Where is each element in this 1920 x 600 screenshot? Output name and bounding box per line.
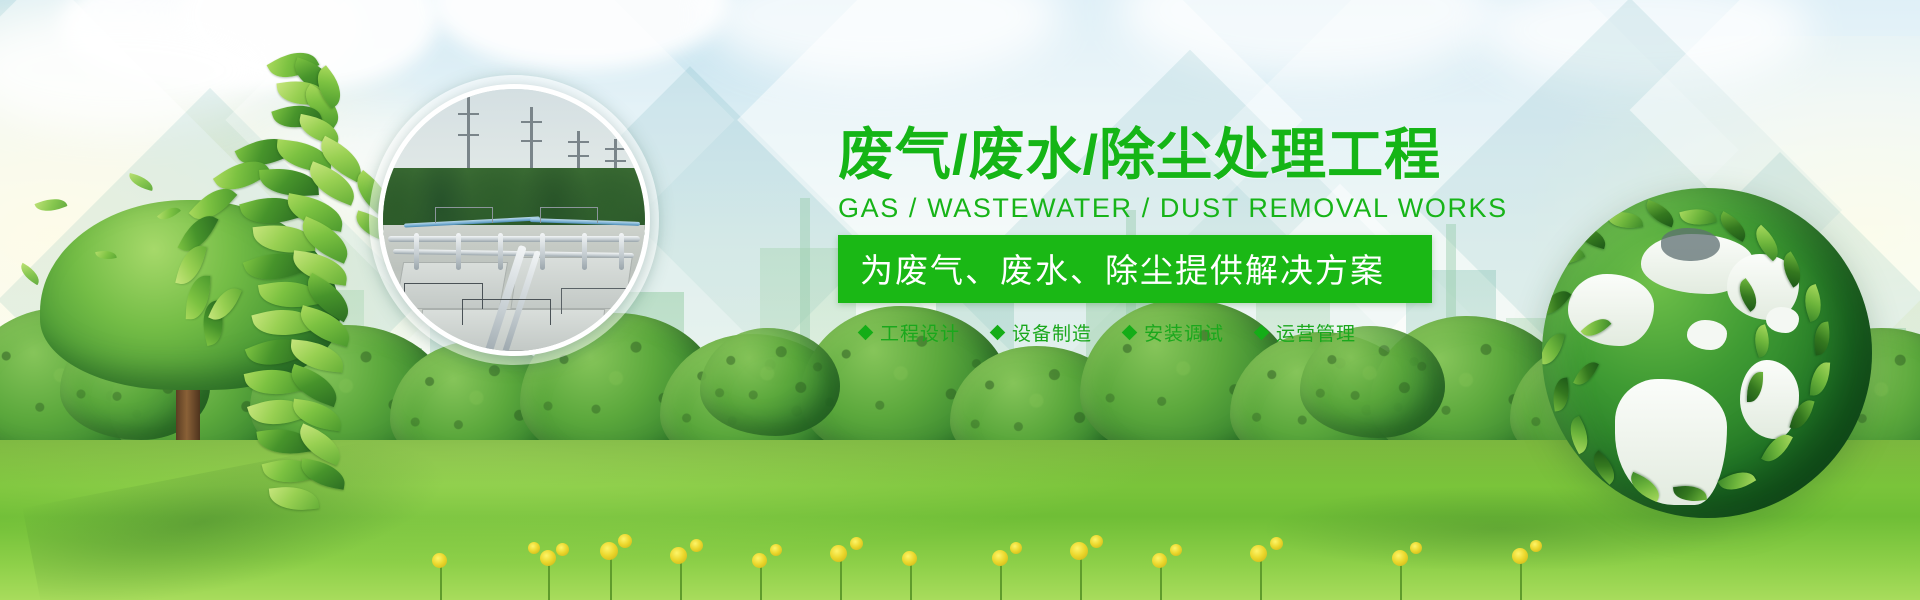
highlight-bar-text: 为废气、废水、除尘提供解决方案 bbox=[860, 252, 1385, 289]
page-subtitle-english: GAS / WASTEWATER / DUST REMOVAL WORKS bbox=[838, 193, 1498, 224]
wastewater-plant-photo-circle bbox=[378, 84, 650, 356]
leafy-globe bbox=[1542, 188, 1872, 518]
diamond-bullet-icon bbox=[1122, 325, 1138, 341]
feature-item[interactable]: 工程设计 bbox=[860, 319, 960, 346]
feature-item[interactable]: 运营管理 bbox=[1256, 319, 1356, 346]
highlight-bar: 为废气、废水、除尘提供解决方案 bbox=[838, 235, 1432, 303]
feature-item[interactable]: 设备制造 bbox=[992, 319, 1092, 346]
feature-label: 设备制造 bbox=[1012, 319, 1092, 346]
diamond-bullet-icon bbox=[1254, 325, 1270, 341]
eco-engineering-banner: 废气/废水/除尘处理工程 GAS / WASTEWATER / DUST REM… bbox=[0, 0, 1920, 600]
diamond-bullet-icon bbox=[858, 325, 874, 341]
diamond-bullet-icon bbox=[990, 325, 1006, 341]
feature-label: 安装调试 bbox=[1144, 319, 1224, 346]
wastewater-treatment-plant-photo bbox=[378, 84, 650, 356]
feature-item[interactable]: 安装调试 bbox=[1124, 319, 1224, 346]
globe-sphere bbox=[1542, 188, 1872, 518]
feature-list: 工程设计 设备制造 安装调试 运营管理 bbox=[860, 319, 1498, 346]
feature-label: 工程设计 bbox=[880, 319, 960, 346]
page-title: 废气/废水/除尘处理工程 bbox=[838, 126, 1498, 185]
headline-copy-block: 废气/废水/除尘处理工程 GAS / WASTEWATER / DUST REM… bbox=[838, 126, 1498, 346]
feature-label: 运营管理 bbox=[1276, 319, 1356, 346]
